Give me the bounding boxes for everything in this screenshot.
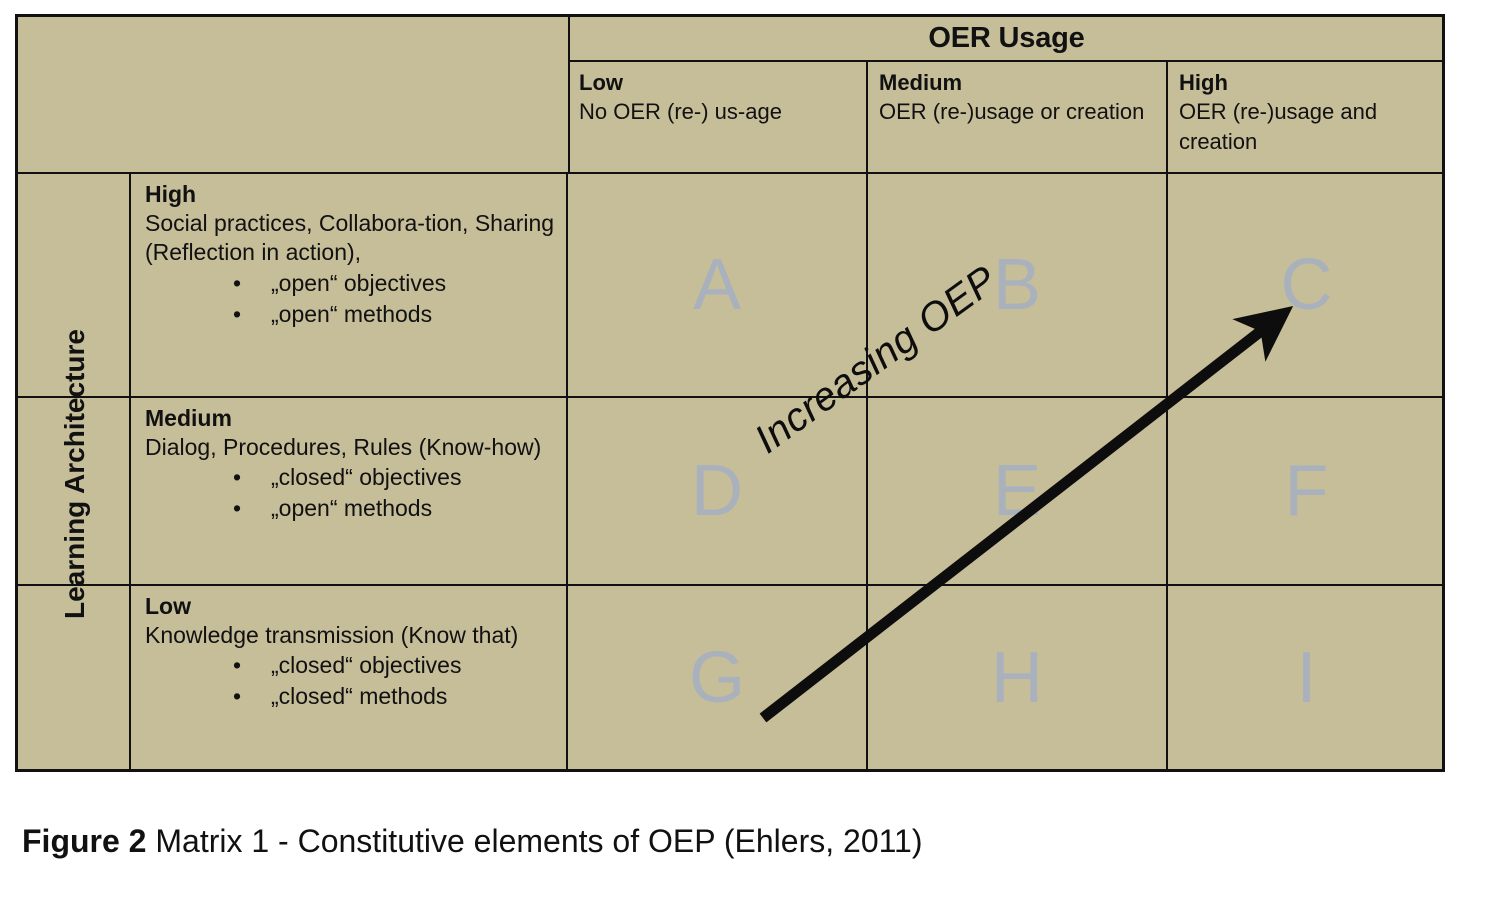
matrix-cell-F: F [1168,398,1445,584]
matrix-cell-I-letter: I [1296,637,1316,719]
column-header-low-description: No OER (re-) us-age [579,97,860,126]
matrix-cell-G-letter: G [689,637,745,719]
figure-caption: Figure 2 Matrix 1 - Constitutive element… [22,823,922,860]
matrix-cell-D-letter: D [691,450,743,532]
row-axis-title: Learning Architecture [59,329,91,619]
row-header-medium-description: Dialog, Procedures, Rules (Know-how) [145,433,562,462]
row-header-medium: Medium Dialog, Procedures, Rules (Know-h… [133,400,568,586]
list-item-label: „open“ methods [271,495,432,521]
row-header-high: High Social practices, Collabora-tion, S… [133,176,568,397]
list-item-label: „open“ methods [271,301,432,327]
column-header-low: Low No OER (re-) us-age [570,62,868,172]
figure-caption-label: Figure 2 [22,823,146,859]
list-item-label: „closed“ methods [271,683,447,709]
bullet-icon: • [233,650,241,681]
matrix-cell-A-letter: A [693,244,741,326]
matrix-cell-H: H [868,586,1166,769]
matrix-cell-F-letter: F [1285,450,1329,532]
matrix-cell-E-letter: E [993,450,1041,532]
list-item: •„closed“ objectives [145,650,562,681]
matrix-cell-G: G [568,586,866,769]
bullet-icon: • [233,462,241,493]
list-item: •„open“ objectives [145,268,562,299]
row-header-low-title: Low [145,592,562,621]
matrix-cell-I: I [1168,586,1445,769]
column-header-medium-description: OER (re-)usage or creation [879,97,1160,126]
row-header-high-title: High [145,180,562,209]
matrix-cell-B-letter: B [993,244,1041,326]
list-item-label: „closed“ objectives [271,464,461,490]
row-header-high-description: Social practices, Collabora-tion, Sharin… [145,209,562,267]
row-header-medium-title: Medium [145,404,562,433]
matrix-cell-B: B [868,174,1166,396]
row-header-low-bullet-list: •„closed“ objectives •„closed“ methods [145,650,562,712]
list-item: •„open“ methods [145,299,562,330]
matrix-cell-C-letter: C [1281,244,1333,326]
list-item: •„open“ methods [145,493,562,524]
bullet-icon: • [233,268,241,299]
bullet-icon: • [233,299,241,330]
row-header-low-description: Knowledge transmission (Know that) [145,621,562,650]
row-axis-label-cell: Learning Architecture [18,174,131,773]
list-item-label: „open“ objectives [271,270,446,296]
figure-container: OER Usage Low No OER (re-) us-age Medium… [0,0,1488,904]
matrix-cell-E: E [868,398,1166,584]
column-header-high-description: OER (re-)usage and creation [1179,97,1437,156]
bullet-icon: • [233,681,241,712]
matrix-cell-H-letter: H [991,637,1043,719]
row-header-high-bullet-list: •„open“ objectives •„open“ methods [145,268,562,330]
column-axis-title: OER Usage [568,17,1445,60]
matrix-cell-D: D [568,398,866,584]
list-item-label: „closed“ objectives [271,652,461,678]
matrix-cell-A: A [568,174,866,396]
column-header-medium: Medium OER (re-)usage or creation [870,62,1168,172]
figure-caption-text: Matrix 1 - Constitutive elements of OEP … [146,823,922,859]
row-header-medium-bullet-list: •„closed“ objectives •„open“ methods [145,462,562,524]
oep-matrix-table: OER Usage Low No OER (re-) us-age Medium… [15,14,1445,772]
column-header-medium-title: Medium [879,68,1160,97]
matrix-cell-C: C [1168,174,1445,396]
bullet-icon: • [233,493,241,524]
column-header-low-title: Low [579,68,860,97]
column-header-high-title: High [1179,68,1437,97]
column-header-high: High OER (re-)usage and creation [1170,62,1445,172]
row-header-low: Low Knowledge transmission (Know that) •… [133,588,568,773]
list-item: •„closed“ methods [145,681,562,712]
list-item: •„closed“ objectives [145,462,562,493]
